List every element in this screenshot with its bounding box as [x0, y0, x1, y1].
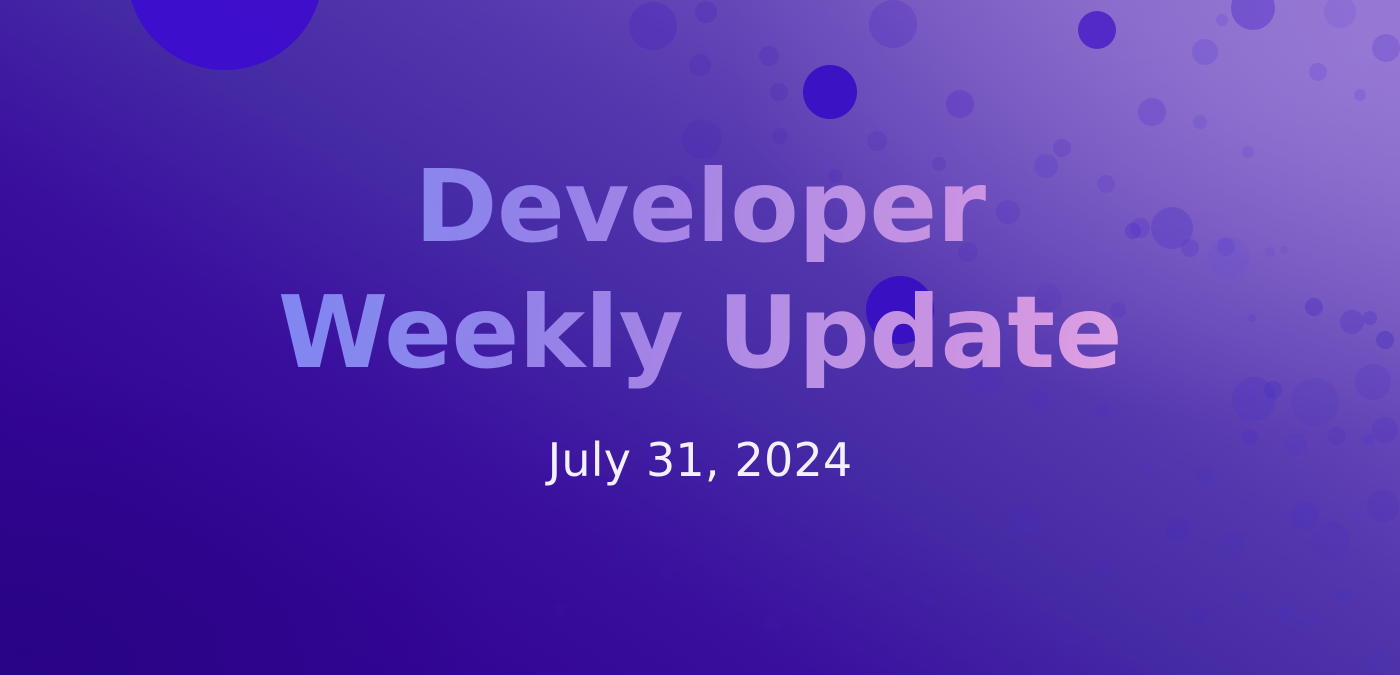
- text-stack: Developer Weekly Update July 31, 2024: [278, 144, 1122, 487]
- title-line-2: Weekly Update: [278, 270, 1122, 396]
- banner-content: Developer Weekly Update July 31, 2024: [0, 0, 1400, 675]
- title-line-1: Developer: [278, 144, 1122, 270]
- banner-date: July 31, 2024: [278, 433, 1122, 487]
- developer-weekly-update-banner: Developer Weekly Update July 31, 2024: [0, 0, 1400, 675]
- page-title: Developer Weekly Update: [278, 144, 1122, 395]
